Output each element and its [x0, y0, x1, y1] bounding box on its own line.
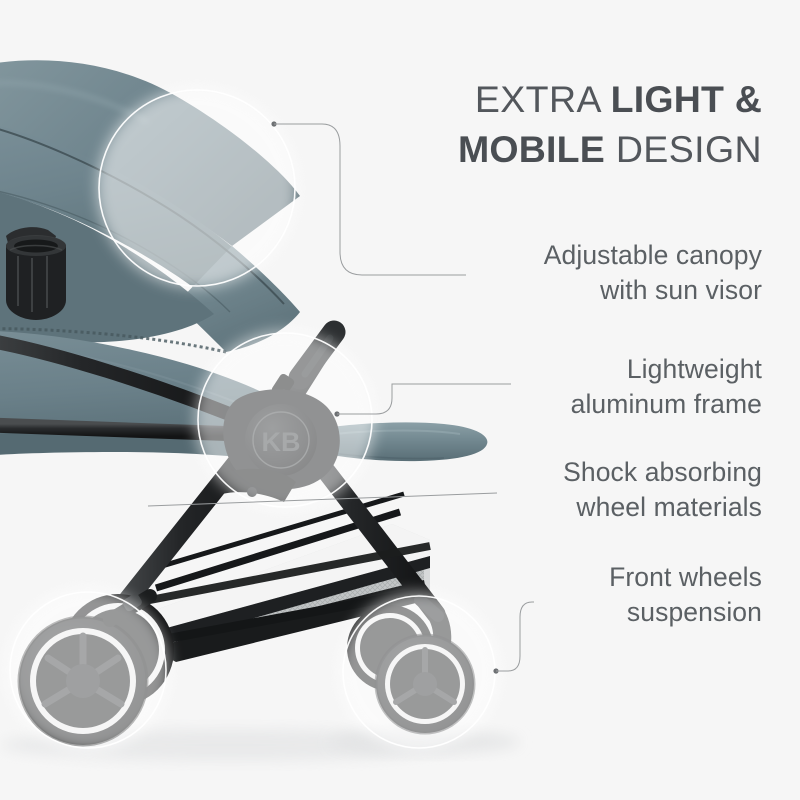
feature-3-line-1: Front wheels	[609, 562, 762, 592]
infographic-canvas: KB	[0, 0, 800, 800]
feature-label-front-wheels-suspension: Front wheels suspension	[432, 560, 762, 630]
headline-line-1: EXTRA LIGHT &	[475, 78, 762, 120]
hub-logo: KB	[222, 389, 340, 502]
feature-0-line-2: with sun visor	[432, 273, 762, 308]
headline-mobile: MOBILE	[458, 128, 605, 170]
feature-3-line-2: suspension	[432, 595, 762, 630]
headline-design: DESIGN	[605, 128, 762, 170]
brand-logo-text: KB	[262, 427, 301, 457]
headline-line-2: MOBILE DESIGN	[458, 128, 762, 170]
feature-1-line-1: Lightweight	[627, 354, 762, 384]
feature-label-adjustable-canopy: Adjustable canopy with sun visor	[432, 238, 762, 308]
feature-0-line-1: Adjustable canopy	[544, 240, 762, 270]
feature-1-line-2: aluminum frame	[432, 387, 762, 422]
page-title: EXTRA LIGHT & MOBILE DESIGN	[332, 74, 762, 175]
feature-label-lightweight-frame: Lightweight aluminum frame	[432, 352, 762, 422]
feature-label-shock-absorbing-wheels: Shock absorbing wheel materials	[432, 455, 762, 525]
rear-wheels	[19, 592, 174, 745]
feature-2-line-1: Shock absorbing	[563, 457, 762, 487]
feature-2-line-2: wheel materials	[432, 490, 762, 525]
headline-light-and: LIGHT &	[611, 78, 762, 120]
cup-holder	[6, 227, 66, 320]
headline-extra: EXTRA	[475, 78, 611, 120]
